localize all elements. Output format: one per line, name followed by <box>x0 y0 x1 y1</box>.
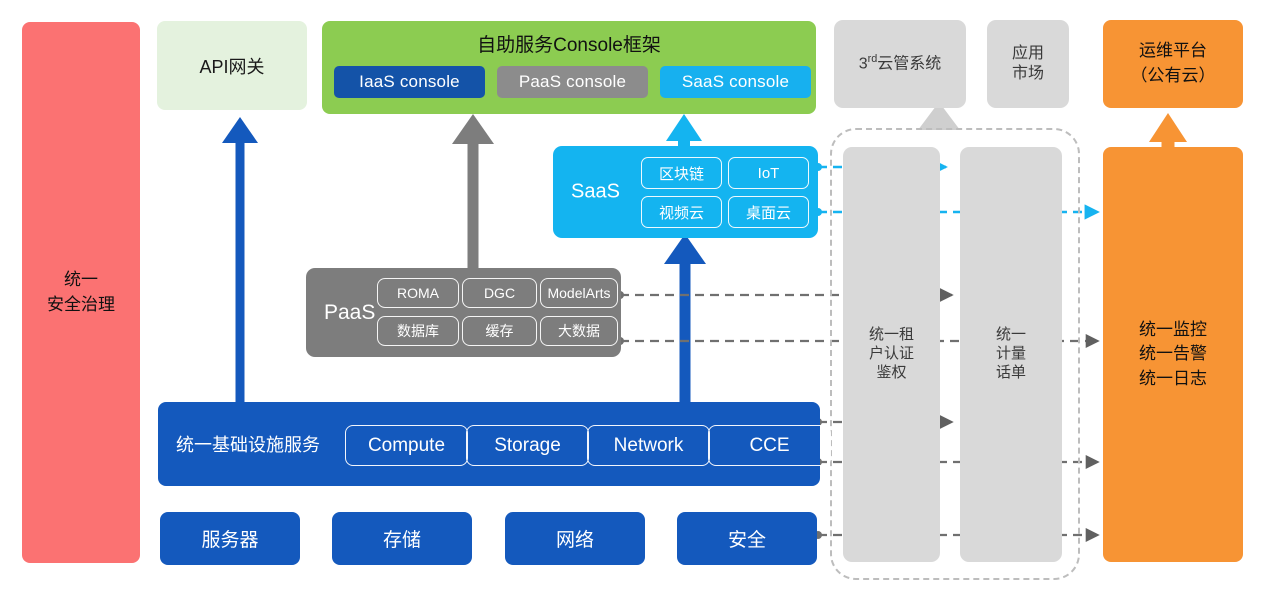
architecture-diagram: 统一 安全治理 API网关 自助服务Console框架 IaaS console… <box>0 0 1265 605</box>
ops-col-line3: 统一日志 <box>1139 367 1207 392</box>
box-api-gateway[interactable]: API网关 <box>157 21 307 110</box>
column-unified-ops[interactable]: 统一监控 统一告警 统一日志 <box>1103 147 1243 562</box>
infra-label: 统一基础设施服务 <box>176 431 320 457</box>
infra-item-storage[interactable]: Storage <box>466 425 589 466</box>
security-label-line1: 统一 <box>47 268 115 293</box>
paas-item-roma[interactable]: ROMA <box>377 278 459 308</box>
paas-item-database[interactable]: 数据库 <box>377 316 459 346</box>
paas-label: PaaS <box>324 301 375 325</box>
ops-col-line1: 统一监控 <box>1139 318 1207 343</box>
third-party-suffix: 云管系统 <box>877 56 941 73</box>
api-gateway-label: API网关 <box>199 53 264 79</box>
box-unified-infrastructure[interactable]: 统一基础设施服务 Compute Storage Network CCE <box>158 402 820 486</box>
box-ops-platform-top[interactable]: 运维平台 （公有云） <box>1103 20 1243 108</box>
chip-saas-console[interactable]: SaaS console <box>660 66 811 98</box>
box-resource-network[interactable]: 网络 <box>505 512 645 565</box>
security-label-line2: 安全治理 <box>47 293 115 318</box>
ops-platform-line2: （公有云） <box>1131 64 1216 89</box>
auth-line2: 户认证 <box>869 345 914 364</box>
infra-item-network[interactable]: Network <box>587 425 710 466</box>
infra-item-cce[interactable]: CCE <box>708 425 831 466</box>
ops-col-line2: 统一告警 <box>1139 342 1207 367</box>
panel-unified-security[interactable]: 统一 安全治理 <box>22 22 140 563</box>
billing-line2: 计量 <box>996 345 1026 364</box>
saas-item-blockchain[interactable]: 区块链 <box>641 157 722 189</box>
third-party-sup: rd <box>868 53 878 65</box>
box-app-market[interactable]: 应用 市场 <box>987 20 1069 108</box>
paas-item-modelarts[interactable]: ModelArts <box>540 278 618 308</box>
box-resource-security[interactable]: 安全 <box>677 512 817 565</box>
auth-line1: 统一租 <box>869 326 914 345</box>
auth-line3: 鉴权 <box>869 364 914 383</box>
box-resource-storage[interactable]: 存储 <box>332 512 472 565</box>
box-self-service-console[interactable]: 自助服务Console框架 IaaS console PaaS console … <box>322 21 816 114</box>
arrow-saas-to-console <box>666 114 702 148</box>
saas-label: SaaS <box>571 181 620 204</box>
box-saas[interactable]: SaaS 区块链 IoT 视频云 桌面云 <box>553 146 818 238</box>
box-third-party-cloud-mgmt[interactable]: 3rd云管系统 <box>834 20 966 108</box>
ops-platform-line1: 运维平台 <box>1131 39 1216 64</box>
column-unified-billing[interactable]: 统一 计量 话单 <box>960 147 1062 562</box>
third-party-prefix: 3 <box>859 56 868 73</box>
chip-paas-console[interactable]: PaaS console <box>497 66 648 98</box>
saas-item-iot[interactable]: IoT <box>728 157 809 189</box>
billing-line3: 话单 <box>996 364 1026 383</box>
paas-item-cache[interactable]: 缓存 <box>462 316 537 346</box>
paas-item-bigdata[interactable]: 大数据 <box>540 316 618 346</box>
console-title: 自助服务Console框架 <box>322 30 816 57</box>
third-party-label: 3rd云管系统 <box>859 53 942 74</box>
paas-item-dgc[interactable]: DGC <box>462 278 537 308</box>
box-resource-server[interactable]: 服务器 <box>160 512 300 565</box>
saas-item-video-cloud[interactable]: 视频云 <box>641 196 722 228</box>
arrow-paas-to-console <box>452 114 494 268</box>
arrow-to-ops-platform <box>1149 113 1187 148</box>
saas-item-desktop-cloud[interactable]: 桌面云 <box>728 196 809 228</box>
arrow-infra-to-saas <box>664 234 706 404</box>
billing-line1: 统一 <box>996 326 1026 345</box>
infra-item-compute[interactable]: Compute <box>345 425 468 466</box>
app-market-line1: 应用 <box>1012 44 1044 64</box>
arrow-infra-to-apigw <box>222 117 258 402</box>
app-market-line2: 市场 <box>1012 64 1044 84</box>
column-unified-tenant-auth[interactable]: 统一租 户认证 鉴权 <box>843 147 940 562</box>
chip-iaas-console[interactable]: IaaS console <box>334 66 485 98</box>
box-paas[interactable]: PaaS ROMA DGC ModelArts 数据库 缓存 大数据 <box>306 268 621 357</box>
